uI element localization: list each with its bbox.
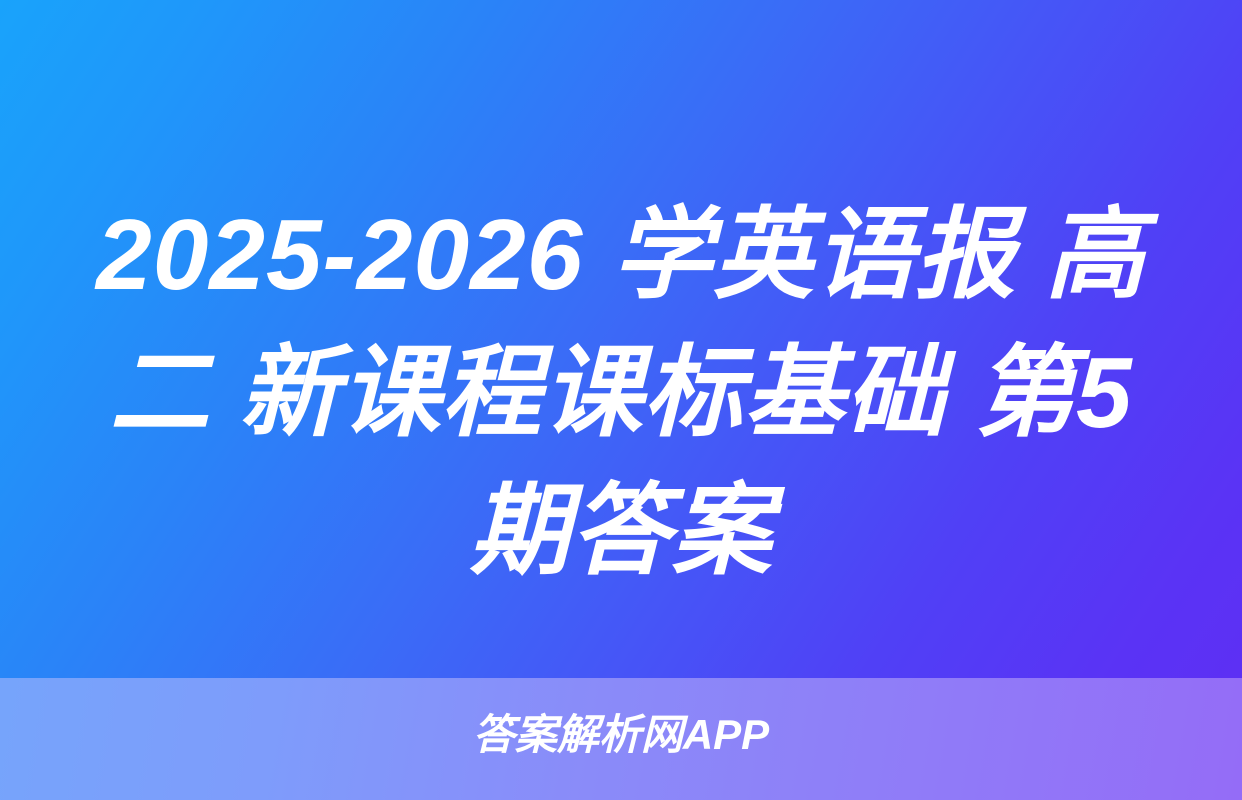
app-watermark: 答案解析网APP [0,708,1242,762]
page-title: 2025-2026 学英语报 高 二 新课程课标基础 第5 期答案 [0,186,1242,600]
poster-canvas: 2025-2026 学英语报 高 二 新课程课标基础 第5 期答案 答案解析网A… [0,0,1242,800]
title-line-3: 期答案 [30,462,1212,600]
title-line-2: 二 新课程课标基础 第5 [30,324,1212,462]
title-line-1: 2025-2026 学英语报 高 [30,186,1212,324]
